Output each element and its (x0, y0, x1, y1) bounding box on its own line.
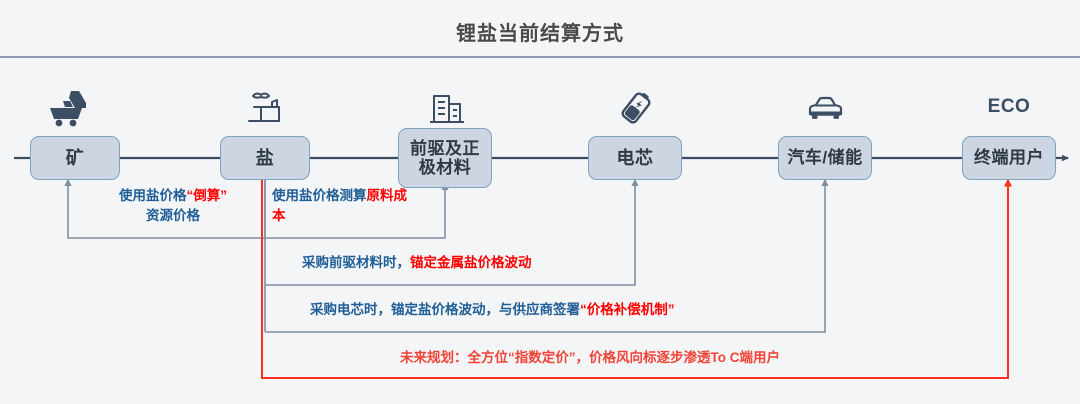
node-cell[interactable]: 电芯 (588, 136, 682, 180)
annotation-mine-text-a: 使用盐价格 (119, 188, 187, 203)
eco-text-icon: ECO (962, 96, 1056, 118)
node-salt-label: 盐 (256, 148, 275, 168)
annotation-cathode: 使用盐价格测算原料成 本 (272, 186, 458, 227)
annotation-mine: 使用盐价格“倒算” 资源价格 (84, 186, 262, 227)
node-cathode-label-line1: 前驱及正 (410, 139, 480, 158)
annotation-cathode-text-highlight: 原料成 (367, 188, 408, 203)
diagram-canvas: 锂盐当前结算方式 (0, 0, 1080, 404)
annotation-precursor-text-a: 采购前驱材料时， (302, 255, 410, 270)
node-cathode[interactable]: 前驱及正 极材料 (398, 128, 492, 188)
annotation-cathode-line2: 本 (272, 206, 458, 226)
annotation-future-text: 未来规划：全方位“指数定价”，价格风向标逐步渗透To C端用户 (400, 350, 780, 365)
annotation-cellbuy: 采购电芯时，锚定盐价格波动，与供应商签署“价格补偿机制” (310, 300, 675, 320)
annotation-mine-text-highlight: “倒算” (187, 188, 228, 203)
node-cell-label: 电芯 (617, 148, 654, 168)
annotation-cellbuy-text-highlight: “价格补偿机制” (580, 302, 675, 317)
annotation-precursor: 采购前驱材料时，锚定金属盐价格波动 (302, 253, 532, 273)
mining-cart-icon (44, 86, 92, 128)
node-enduser-label: 终端用户 (974, 148, 1044, 167)
annotation-mine-line2: 资源价格 (84, 206, 262, 226)
annotation-cathode-text-a: 使用盐价格测算 (272, 188, 367, 203)
node-salt[interactable]: 盐 (220, 136, 310, 180)
battery-icon (612, 86, 660, 128)
annotation-precursor-text-highlight: 锚定金属盐价格波动 (410, 255, 532, 270)
node-enduser[interactable]: 终端用户 (962, 136, 1056, 180)
annotation-future: 未来规划：全方位“指数定价”，价格风向标逐步渗透To C端用户 (400, 348, 780, 368)
node-vehicle[interactable]: 汽车/储能 (778, 136, 872, 180)
annotation-cellbuy-text-a: 采购电芯时，锚定盐价格波动，与供应商签署 (310, 302, 580, 317)
node-mine-label: 矿 (66, 148, 85, 168)
building-icon (422, 86, 470, 128)
factory-icon (240, 86, 288, 128)
annotation-mine-line1: 使用盐价格“倒算” (84, 186, 262, 206)
node-cathode-label-line2: 极材料 (419, 158, 472, 177)
car-icon (801, 88, 849, 128)
node-vehicle-label: 汽车/储能 (787, 148, 862, 167)
node-mine[interactable]: 矿 (30, 136, 120, 180)
annotation-cathode-line1: 使用盐价格测算原料成 (272, 186, 458, 206)
